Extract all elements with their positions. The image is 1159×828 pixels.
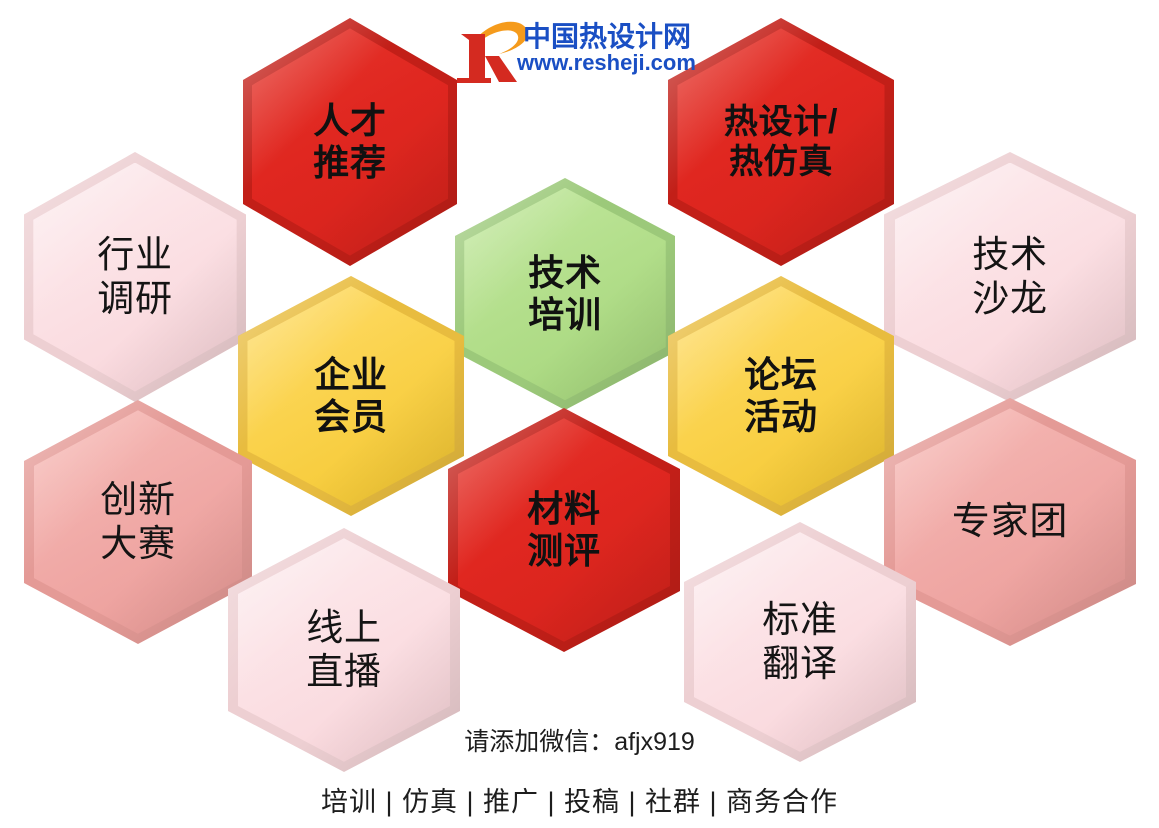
hex-label: 专家团 [952,500,1068,545]
hex-industry-research[interactable]: 行业 调研 [24,152,246,402]
hex-innovation-contest[interactable]: 创新 大赛 [24,400,252,644]
wechat-contact-text: 请添加微信：afjx919 [0,722,1159,758]
hex-expert-team[interactable]: 专家团 [884,398,1136,646]
hex-corporate-membership[interactable]: 企业 会员 [238,276,464,516]
services-list-text: 培训 | 仿真 | 推广 | 投稿 | 社群 | 商务合作 [0,780,1159,819]
hex-label: 材料 测评 [527,488,600,573]
hex-label: 热设计/ 热仿真 [724,102,838,182]
hex-thermal-design[interactable]: 热设计/ 热仿真 [668,18,894,266]
hex-talent-recommendation[interactable]: 人才 推荐 [243,18,457,266]
hex-label: 技术 沙龙 [972,233,1047,320]
hex-label: 行业 调研 [97,233,172,320]
site-logo[interactable]: 中国热设计网 www.resheji.com [455,14,670,88]
infographic-canvas: 人才 推荐 热设计/ 热仿真 行业 调研 技术 培训 技术 沙龙 企业 会员 论… [0,0,1159,828]
hex-label: 创新 大赛 [100,478,175,565]
hex-label: 企业 会员 [314,354,387,439]
hex-label: 技术 培训 [528,252,601,337]
hex-technical-salon[interactable]: 技术 沙龙 [884,152,1136,402]
hex-label: 人才 推荐 [313,100,386,185]
hex-label: 线上 直播 [306,606,381,693]
hex-label: 标准 翻译 [762,598,837,685]
logo-site-url: www.resheji.com [517,50,696,76]
logo-site-name: 中国热设计网 [523,15,691,55]
hex-label: 论坛 活动 [744,354,817,439]
hex-forum-activities[interactable]: 论坛 活动 [668,276,894,516]
hex-technical-training[interactable]: 技术 培训 [455,178,675,410]
hex-material-evaluation[interactable]: 材料 测评 [448,408,680,652]
